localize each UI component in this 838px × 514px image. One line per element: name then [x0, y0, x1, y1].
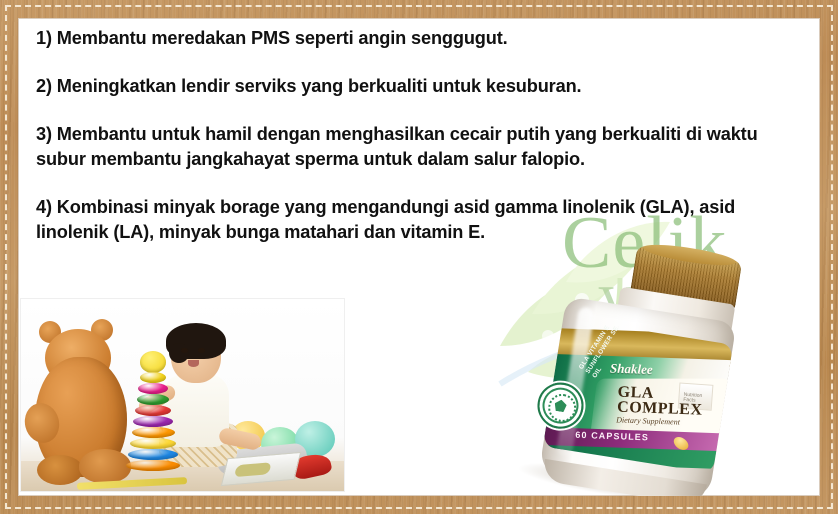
- stacking-ring: [140, 351, 166, 373]
- child-photo: [20, 298, 345, 492]
- child-mouth: [188, 360, 199, 367]
- stacking-ring: [132, 427, 175, 438]
- benefits-list: 1) Membantu meredakan PMS seperti angin …: [36, 26, 788, 245]
- benefit-item-4: 4) Kombinasi minyak borage yang mengandu…: [36, 195, 788, 245]
- stacking-ring: [128, 449, 178, 460]
- stacking-ring: [137, 394, 170, 405]
- benefit-item-2: 2) Meningkatkan lendir serviks yang berk…: [36, 74, 788, 99]
- stacking-ring-toy: [127, 361, 179, 479]
- stacking-ring: [135, 405, 171, 416]
- product-bottle: Shaklee GLA VITAMIN E & SUNFLOWER SEED O…: [512, 231, 760, 496]
- slide-frame: Celik Vita 1) Membantu meredakan PMS sep…: [0, 0, 838, 514]
- child-eye: [181, 348, 188, 353]
- stacking-ring: [140, 372, 166, 383]
- benefit-item-1: 1) Membantu meredakan PMS seperti angin …: [36, 26, 788, 51]
- teddy-leg: [79, 449, 131, 483]
- teddy-leg: [37, 455, 83, 485]
- benefit-item-3: 3) Membantu untuk hamil dengan menghasil…: [36, 122, 788, 172]
- child-hair: [166, 323, 226, 359]
- stacking-ring: [130, 438, 176, 449]
- stacking-ring: [138, 383, 167, 394]
- stacking-ring: [133, 416, 173, 427]
- child-eye: [198, 348, 205, 353]
- product-name: GLA COMPLEX: [617, 385, 703, 418]
- slide-canvas: Celik Vita 1) Membantu meredakan PMS sep…: [18, 18, 820, 496]
- stacking-ring: [126, 460, 179, 471]
- product-brand: Shaklee: [610, 361, 653, 378]
